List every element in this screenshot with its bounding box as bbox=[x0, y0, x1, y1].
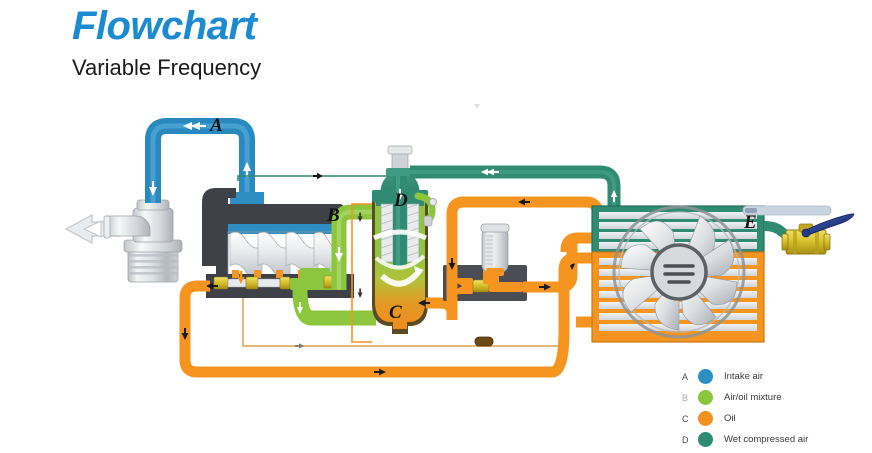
legend-dot-oil bbox=[698, 411, 713, 426]
legend-dot-wet-compressed-air bbox=[698, 432, 713, 447]
legend-dot-air-oil-mixture bbox=[698, 390, 713, 405]
legend-item: C Oil bbox=[682, 408, 862, 429]
legend-label-oil: Oil bbox=[724, 413, 736, 424]
legend-letter-d: D bbox=[682, 435, 698, 445]
label-C: C bbox=[389, 302, 402, 323]
stray-mark bbox=[474, 104, 480, 109]
legend-item: A Intake air bbox=[682, 366, 862, 387]
legend-label-wet-compressed-air: Wet compressed air bbox=[724, 434, 808, 445]
legend-dot-intake-air bbox=[698, 369, 713, 384]
minimum-pressure-valve bbox=[424, 216, 432, 226]
flowchart-page: Flowchart Variable Frequency bbox=[0, 0, 872, 453]
legend-item: B Air/oil mixture bbox=[682, 387, 862, 408]
label-D: D bbox=[393, 190, 408, 211]
legend-label-intake-air: Intake air bbox=[724, 371, 763, 382]
legend-letter-a: A bbox=[682, 372, 698, 382]
legend: A Intake air B Air/oil mixture C Oil D W… bbox=[682, 366, 862, 450]
control-line bbox=[238, 173, 396, 181]
legend-letter-c: C bbox=[682, 414, 698, 424]
legend-label-air-oil-mixture: Air/oil mixture bbox=[724, 392, 782, 403]
legend-item: D Wet compressed air bbox=[682, 429, 862, 450]
label-E: E bbox=[743, 212, 757, 233]
label-A: A bbox=[209, 115, 223, 136]
legend-letter-b: B bbox=[682, 393, 698, 403]
oil-filter bbox=[481, 224, 509, 276]
air-filter bbox=[104, 200, 182, 282]
label-B: B bbox=[326, 205, 340, 226]
